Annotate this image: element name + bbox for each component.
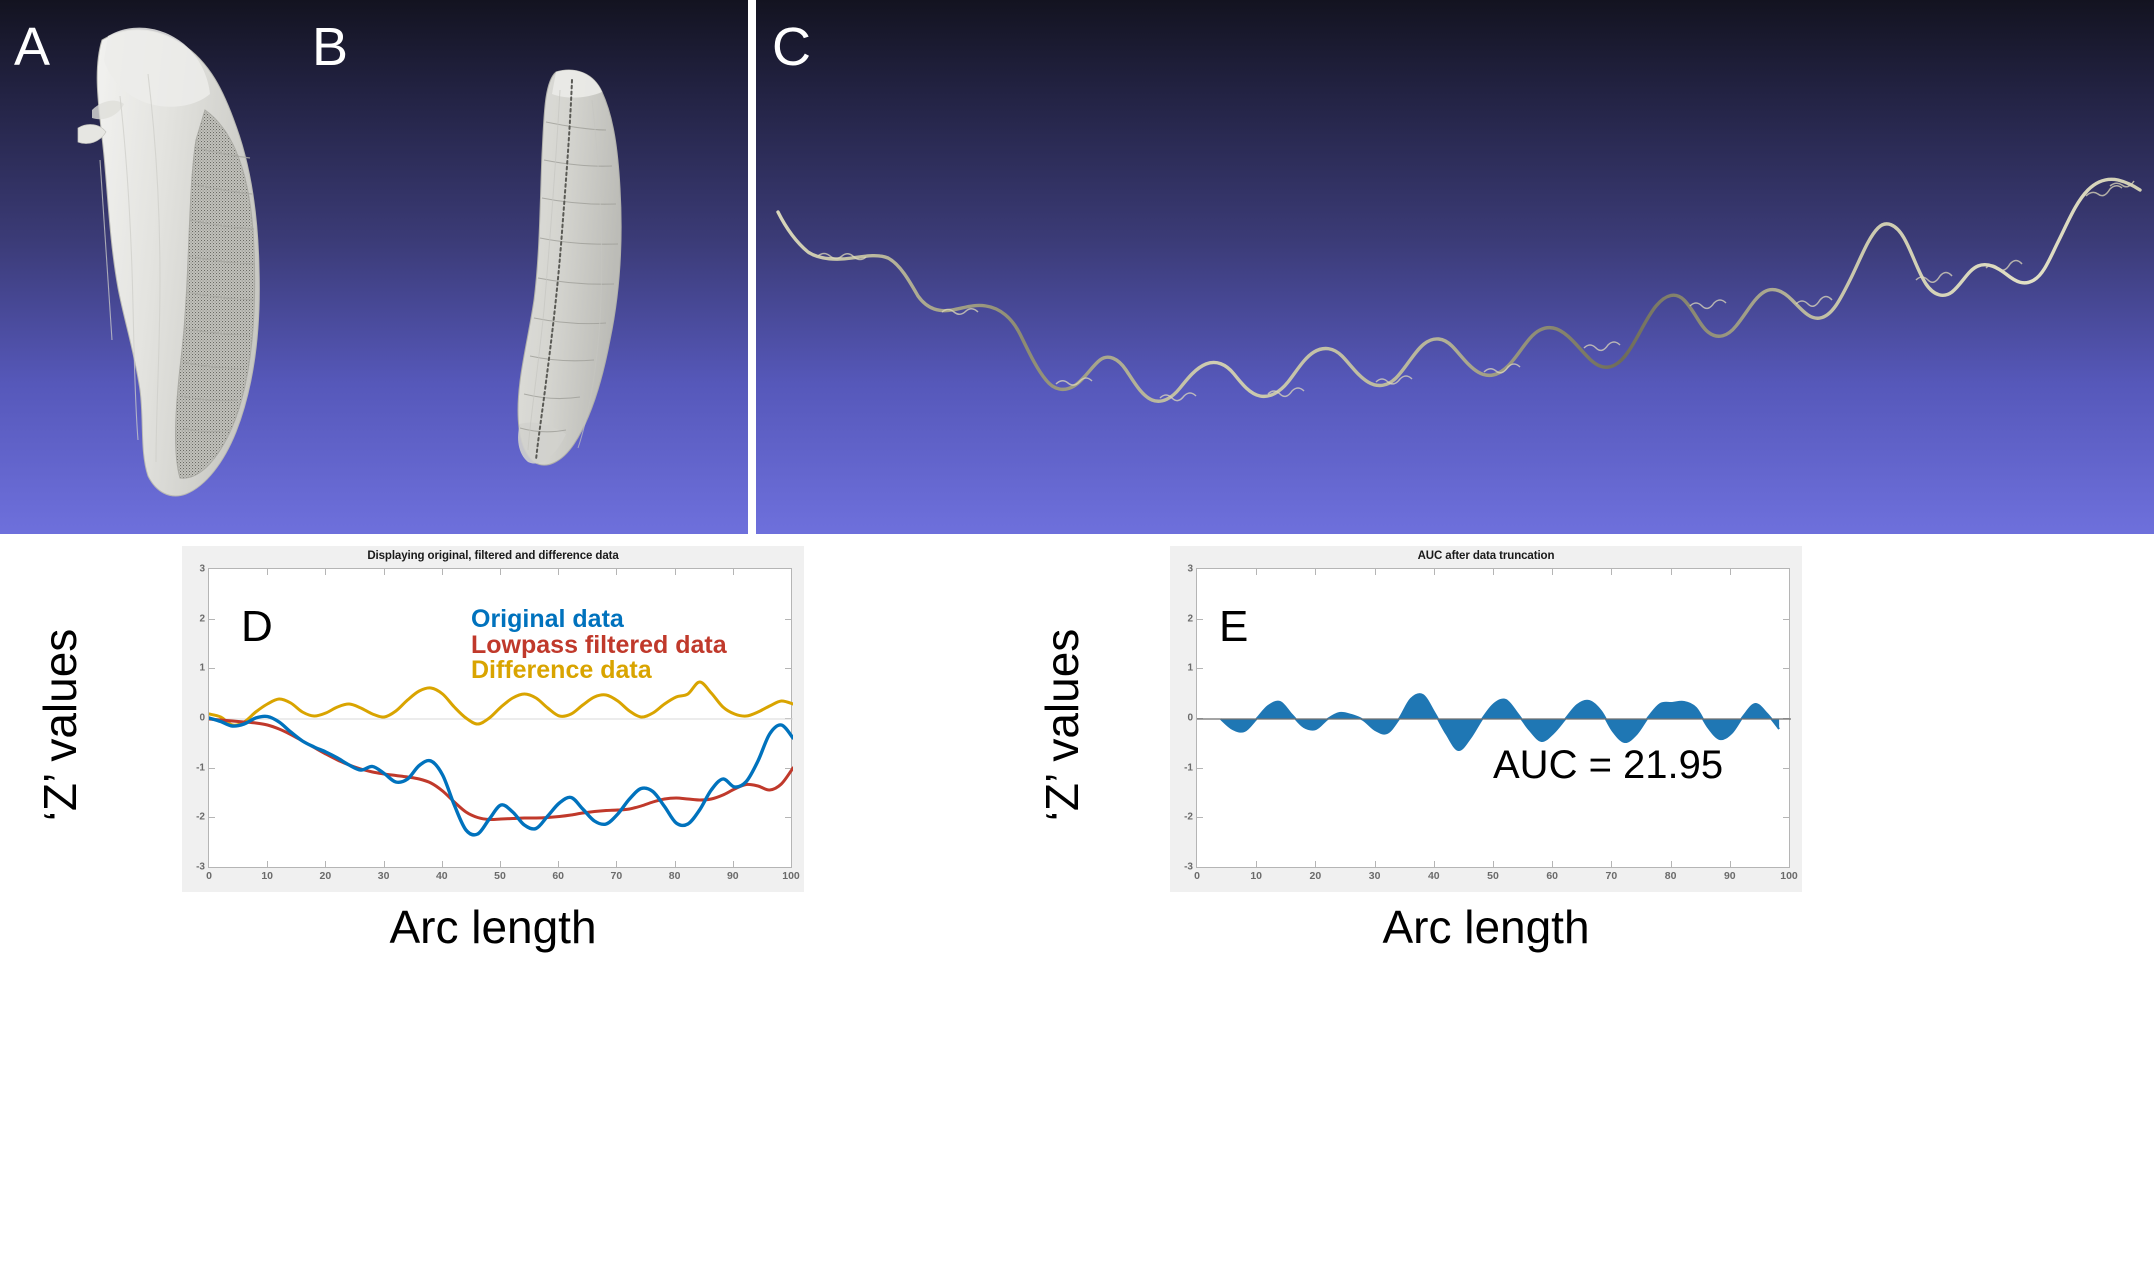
panel-e-ytick-m3: -3 [1184, 862, 1193, 873]
panel-d-ytick-m3: -3 [196, 862, 205, 873]
legend-item-original: Original data [471, 607, 727, 633]
panel-d-ytick-2: 2 [199, 613, 205, 624]
panel-b-label: B [312, 20, 348, 74]
panel-d-ytick-1: 1 [199, 663, 205, 674]
panel-d-xtick-20: 20 [320, 870, 332, 882]
panel-d-block: Displaying original, filtered and differ… [0, 534, 1060, 1286]
panel-e-ytick-3: 3 [1187, 564, 1193, 575]
panel-e-ytick-2: 2 [1187, 613, 1193, 624]
panel-e-area-fill [1197, 569, 1791, 869]
panel-c-viewport: C [756, 0, 2154, 534]
panel-d-xtick-50: 50 [494, 870, 506, 882]
panel-d-xtick-100: 100 [782, 870, 800, 882]
panel-e-xtick-80: 80 [1665, 870, 1677, 882]
panel-d-xtick-30: 30 [378, 870, 390, 882]
panel-d-ylabel: ‘Z’ values [37, 605, 83, 845]
panel-d-letter: D [241, 605, 273, 649]
panel-e-xtick-50: 50 [1487, 870, 1499, 882]
panel-e-ytick-m2: -2 [1184, 812, 1193, 823]
panel-d-matlab-figure: Displaying original, filtered and differ… [182, 546, 804, 892]
panel-d-axes: 3 2 1 0 -1 -2 -3 0 10 20 [208, 568, 792, 868]
panel-e-matlab-figure: AUC after data truncation 3 2 1 0 -1 -2 … [1170, 546, 1802, 892]
panel-e-auc-annotation: AUC = 21.95 [1493, 745, 1723, 785]
panel-e-xtick-40: 40 [1428, 870, 1440, 882]
panel-e-ytick-m1: -1 [1184, 762, 1193, 773]
panel-e-xtick-70: 70 [1606, 870, 1618, 882]
panel-d-xtick-0: 0 [206, 870, 212, 882]
panel-e-xtick-20: 20 [1310, 870, 1322, 882]
panel-d-legend: Original data Lowpass filtered data Diff… [471, 607, 727, 684]
panel-d-ytick-0: 0 [199, 713, 205, 724]
panel-ab-viewport: A B [0, 0, 748, 534]
panel-d-xtick-40: 40 [436, 870, 448, 882]
panel-e-block: AUC after data truncation 3 2 1 0 -1 -2 … [1060, 534, 2154, 1286]
panel-e-xlabel: Arc length [1170, 904, 1802, 950]
legend-item-filtered: Lowpass filtered data [471, 633, 727, 659]
series-original-data [209, 716, 793, 835]
panel-c-label: C [772, 20, 811, 74]
panel-c-noise-highlights [818, 181, 2134, 401]
render-row: A B [0, 0, 2154, 534]
panel-d-xtick-60: 60 [552, 870, 564, 882]
panel-e-ylabel: ‘Z’ values [1039, 605, 1085, 845]
area-fill [1221, 694, 1779, 750]
panel-e-axes: 3 2 1 0 -1 -2 -3 0 10 20 30 [1196, 568, 1790, 868]
panel-d-ytick-3: 3 [199, 564, 205, 575]
legend-item-difference: Difference data [471, 658, 727, 684]
panel-a-label: A [14, 20, 50, 74]
panel-b-mesh [518, 70, 621, 465]
panel-e-letter: E [1219, 605, 1248, 649]
panel-e-title: AUC after data truncation [1170, 550, 1802, 562]
panel-c-curve [778, 179, 2140, 401]
panel-ab-3d-render [0, 0, 748, 534]
panel-d-ytick-m1: -1 [196, 762, 205, 773]
panel-e-xtick-10: 10 [1250, 870, 1262, 882]
panel-d-xtick-80: 80 [669, 870, 681, 882]
panel-d-xtick-10: 10 [261, 870, 273, 882]
panel-a-mesh [78, 28, 280, 500]
panel-e-xtick-100: 100 [1780, 870, 1798, 882]
panel-c-centerline-render [756, 0, 2154, 534]
panel-d-xlabel: Arc length [182, 904, 804, 950]
figure-root: A B [0, 0, 2154, 1286]
panel-e-xtick-30: 30 [1369, 870, 1381, 882]
panel-d-ytick-m2: -2 [196, 812, 205, 823]
panel-d-title: Displaying original, filtered and differ… [182, 550, 804, 562]
panel-d-xtick-90: 90 [727, 870, 739, 882]
panel-e-ytick-1: 1 [1187, 663, 1193, 674]
panel-d-xtick-70: 70 [611, 870, 623, 882]
panel-e-xtick-90: 90 [1724, 870, 1736, 882]
panel-e-ytick-0: 0 [1187, 713, 1193, 724]
panel-e-xtick-0: 0 [1194, 870, 1200, 882]
panel-e-xtick-60: 60 [1546, 870, 1558, 882]
